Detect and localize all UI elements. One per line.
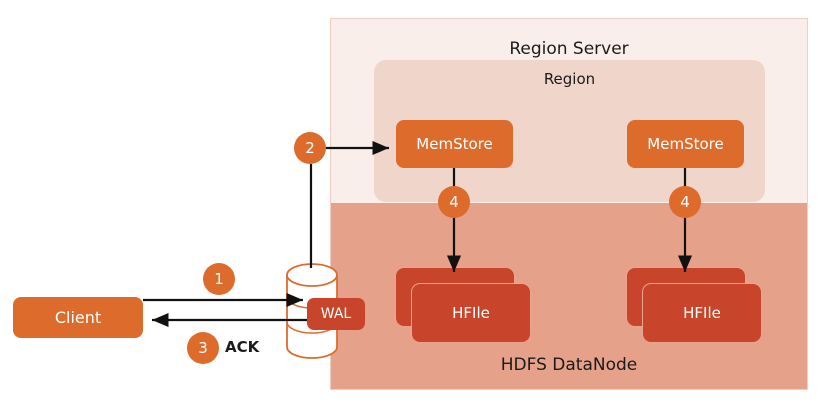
step-badge-2: 2 [294,132,326,164]
wal-label: WAL [321,306,351,322]
region-title: Region [374,70,765,88]
region-server-title: Region Server [331,39,807,59]
memstore-right-label: MemStore [647,135,723,153]
step-badge-1: 1 [203,263,235,295]
node-memstore-right: MemStore [627,120,744,168]
step-4-right-label: 4 [680,193,690,211]
hfile-right-front-card: HFIle [642,283,762,343]
hfile-right-label: HFIle [683,304,721,322]
node-client: Client [13,297,143,338]
step-badge-3: 3 [187,332,219,364]
hbase-write-path-diagram: Region Server Region HDFS DataNode MemSt… [0,0,821,407]
step-4-left-label: 4 [449,193,459,211]
hdfs-datanode-title: HDFS DataNode [331,355,807,375]
hfile-left-front-card: HFIle [411,283,531,343]
memstore-left-label: MemStore [416,135,492,153]
node-wal: WAL [307,298,365,330]
ack-label: ACK [225,338,259,356]
step-2-label: 2 [305,139,315,157]
client-label: Client [55,308,101,327]
node-hfile-right: HFIle [626,267,762,343]
step-1-label: 1 [214,270,224,288]
node-hfile-left: HFIle [395,267,531,343]
step-badge-4-left: 4 [438,186,470,218]
hfile-left-label: HFIle [452,304,490,322]
node-memstore-left: MemStore [396,120,513,168]
step-badge-4-right: 4 [669,186,701,218]
step-3-label: 3 [198,339,208,357]
